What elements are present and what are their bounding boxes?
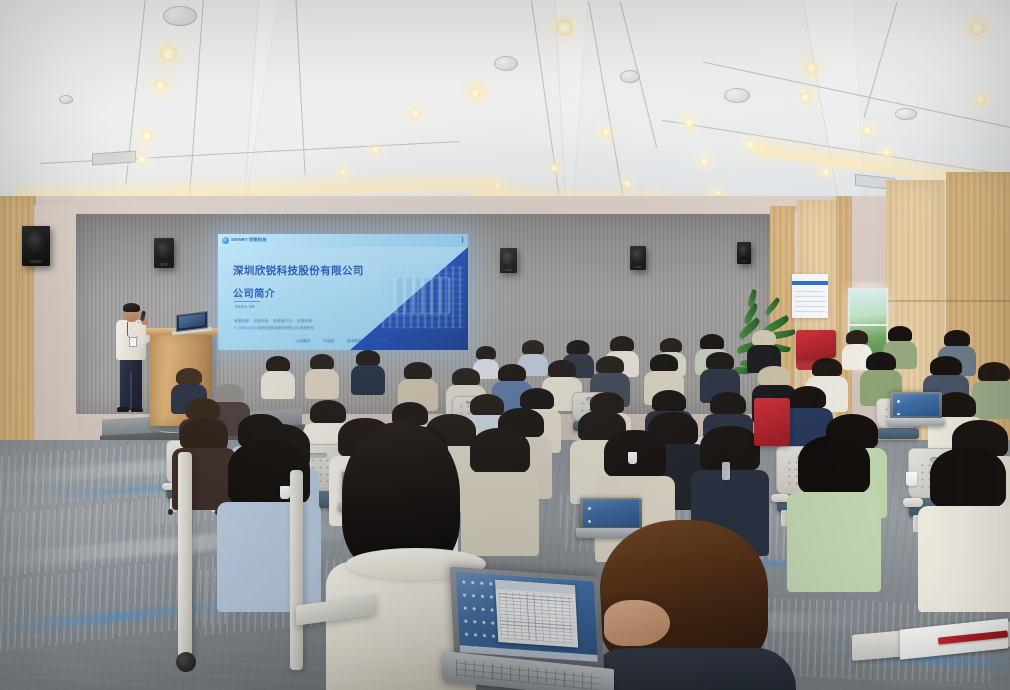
chair-handle-slot	[307, 453, 327, 458]
attendee-b5	[356, 350, 380, 380]
attendee-e4	[604, 430, 666, 506]
attendee-e3	[470, 428, 530, 502]
poster-text-lines	[795, 290, 825, 312]
logo-mark-icon	[222, 237, 229, 244]
foreground-chair-frame[interactable]	[178, 452, 192, 658]
presenter-id-badge	[129, 337, 137, 347]
paper-cup-3	[280, 486, 290, 499]
wall-speaker-right-b	[630, 246, 646, 270]
slide-subtitle: 公司简介	[233, 285, 275, 300]
paper-cup-2	[628, 452, 637, 464]
red-bag-2	[754, 398, 790, 446]
attendee-b12	[706, 352, 734, 386]
slide-nav: 公司概况 产品线 技术研发 全球布局	[296, 339, 389, 344]
slide-meta-line-1: 电源控制 · 欣锐科技 · 新能源汽车 · 车载电源	[234, 318, 312, 323]
paper-cup-1	[906, 472, 917, 486]
attendee-b17	[978, 362, 1010, 400]
attendee-a9	[846, 330, 868, 358]
foreground-chair-caster	[176, 652, 196, 672]
attendee-c10	[790, 386, 826, 430]
spreadsheet-window[interactable]	[495, 579, 578, 647]
attendee-b15	[866, 352, 896, 388]
attendee-e5	[700, 426, 760, 500]
attendee-e6	[798, 436, 870, 524]
water-bottle-2	[722, 462, 730, 480]
presenter-shoe-left	[117, 407, 129, 412]
attendee-b4	[310, 354, 334, 384]
presenter-shoe-right	[131, 407, 143, 412]
slide-divider	[234, 301, 260, 302]
logo-wordmark: SHINRY 欣锐科技	[231, 237, 267, 243]
chair-arm-left	[903, 498, 923, 506]
attendee-b16	[930, 356, 962, 394]
attendee-b3	[266, 356, 290, 386]
wood-panel-seam	[886, 300, 1010, 302]
desktop-icons	[894, 395, 904, 414]
desktop-icons	[585, 502, 597, 525]
desktop-icons	[459, 575, 496, 648]
attendee-e7	[930, 448, 1006, 540]
laptop-screen	[893, 394, 940, 417]
attendee-a7	[752, 330, 776, 360]
foreground-chair-frame-2[interactable]	[290, 470, 303, 670]
red-bag-1	[796, 330, 836, 358]
attendee-b6	[404, 362, 432, 396]
slide-nav-item-3: 全球布局	[375, 339, 389, 344]
slide-title: 深圳欣锐科技股份有限公司	[233, 263, 364, 278]
slide-corner-glyph: ⟩	[461, 236, 464, 244]
slide-nav-item-1: 产品线	[323, 339, 334, 344]
laptop-screen	[456, 572, 598, 662]
foreground-attendee-right-shoulder	[586, 648, 796, 690]
slide-date: 2024.05	[235, 304, 255, 309]
foreground-hand	[604, 600, 670, 646]
presenter-leg-seam	[130, 372, 132, 410]
chair-seat	[877, 428, 919, 439]
slide-meta-line-2: © 2005-2024 深圳欣锐科技股份有限公司 版权所有	[234, 325, 314, 330]
conference-room-photo: SHINRY 欣锐科技 ⟩ 深圳欣锐科技股份有限公司 公司简介 2024.05 …	[0, 0, 1010, 690]
chair-caster	[168, 509, 172, 515]
poster-header-band	[792, 281, 828, 285]
attendee-b10	[596, 356, 624, 390]
wall-speaker-right-c	[737, 242, 751, 264]
laptop-lid	[890, 392, 942, 419]
foreground-laptop[interactable]: hp	[442, 572, 614, 690]
projection-screen: SHINRY 欣锐科技 ⟩ 深圳欣锐科技股份有限公司 公司简介 2024.05 …	[218, 234, 468, 350]
laptop-base[interactable]	[887, 418, 945, 426]
presenter-hair	[123, 303, 140, 312]
attendee-b1	[176, 368, 202, 402]
wall-speaker-left	[22, 226, 50, 266]
wall-speaker-right-a	[500, 248, 517, 273]
slide-product-image	[382, 266, 464, 328]
wall-poster	[792, 274, 828, 318]
audience-laptop-3[interactable]	[890, 392, 942, 426]
spreadsheet-grid	[498, 591, 574, 644]
wall-speaker-center	[154, 238, 174, 268]
slide-logo: SHINRY 欣锐科技	[222, 237, 267, 244]
window-mullion	[848, 324, 888, 326]
attendee-b11	[650, 354, 678, 388]
slide-nav-item-0: 公司概况	[296, 339, 310, 344]
slide-nav-item-2: 技术研发	[347, 339, 361, 344]
